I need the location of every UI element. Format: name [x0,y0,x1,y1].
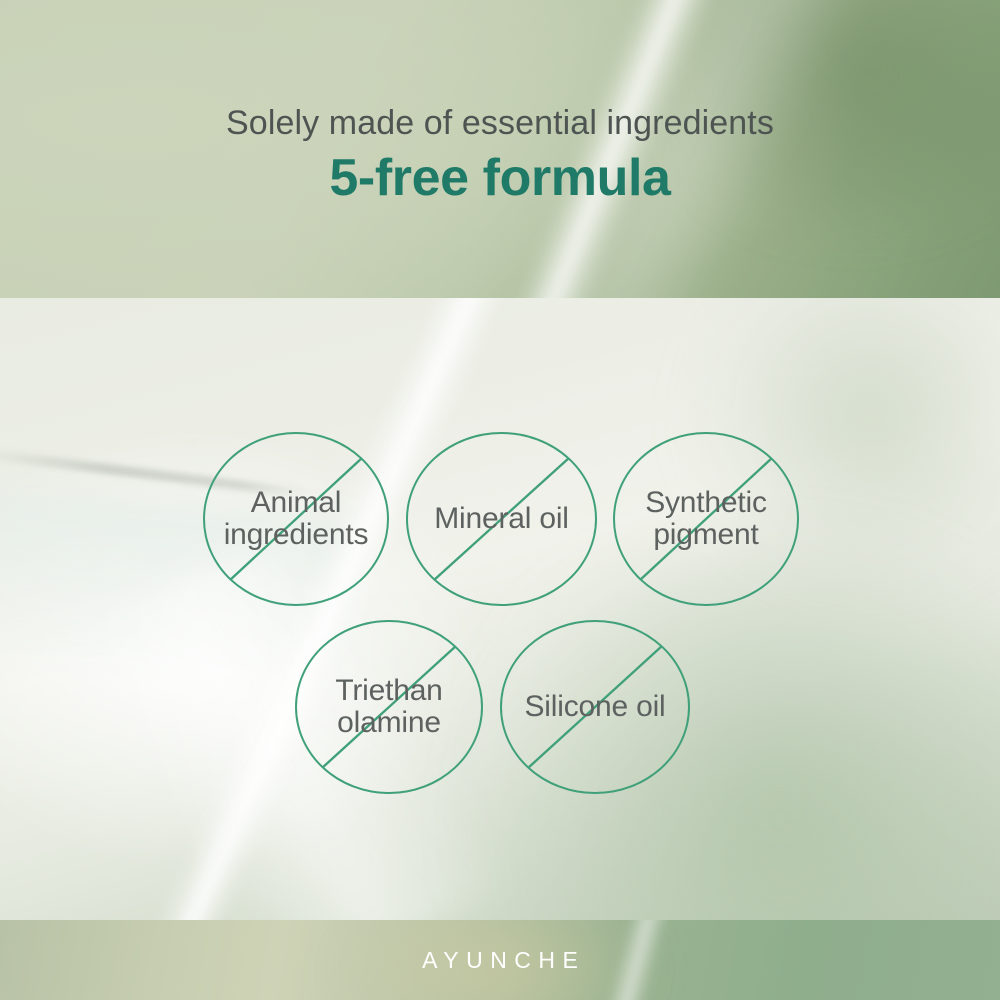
free-item-mineral-oil: Mineral oil [406,432,597,606]
free-list: Animal ingredients Mineral oil Synthetic… [0,298,1000,920]
free-item-label: Silicone oil [520,691,669,723]
free-item-label: Synthetic pigment [641,487,771,551]
free-item-synthetic-pigment: Synthetic pigment [613,432,799,606]
footer-band: AYUNCHE [0,920,1000,1000]
hero-subtitle: Solely made of essential ingredients [226,105,774,142]
promo-image: Solely made of essential ingredients 5-f… [0,0,1000,1000]
free-item-label: Triethan olamine [331,675,446,739]
free-item-silicone-oil: Silicone oil [500,620,690,794]
free-item-label: Animal ingredients [220,487,373,551]
hero-title: 5-free formula [329,149,670,209]
hero-text-block: Solely made of essential ingredients 5-f… [0,0,1000,298]
main-band: Animal ingredients Mineral oil Synthetic… [0,298,1000,920]
free-item-label: Mineral oil [430,503,573,535]
free-item-triethanolamine: Triethan olamine [295,620,483,794]
brand-logo: AYUNCHE [415,949,586,972]
free-item-animal-ingredients: Animal ingredients [203,432,389,606]
